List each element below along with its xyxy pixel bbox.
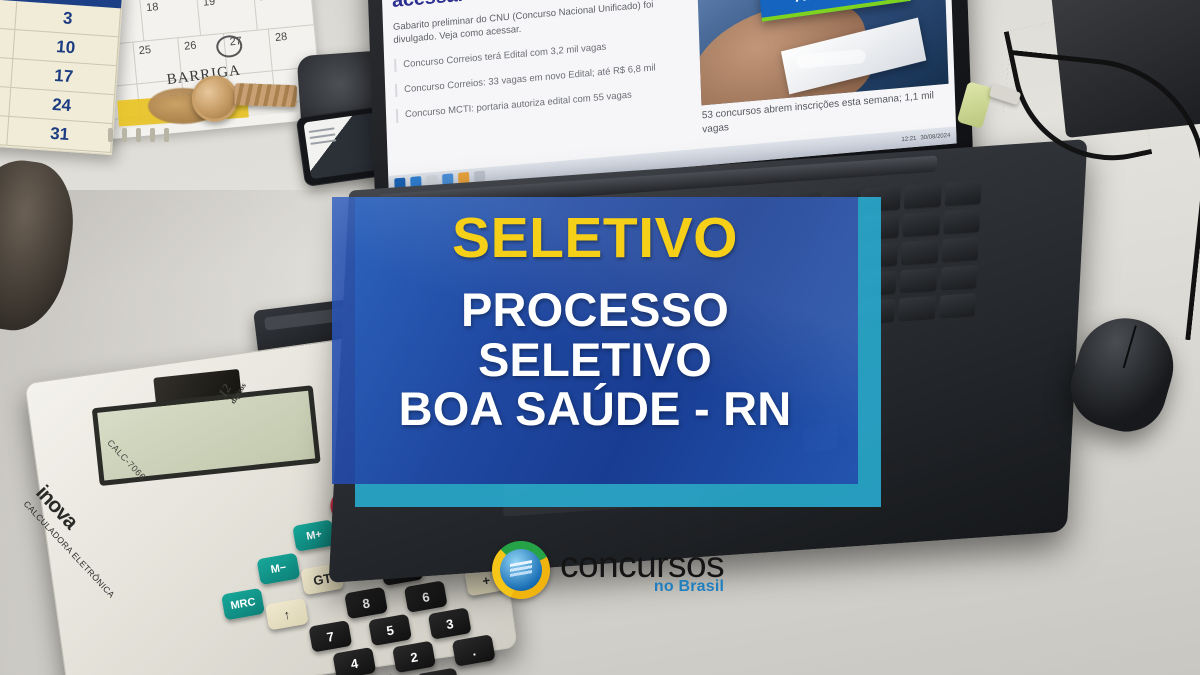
calc-key-8[interactable]: 8 bbox=[344, 587, 388, 620]
calc-key-3[interactable]: 3 bbox=[428, 607, 472, 640]
calendar-day: 31 bbox=[7, 117, 113, 152]
calendar-binder-rings bbox=[108, 128, 174, 144]
calc-key-4[interactable]: 4 bbox=[332, 647, 376, 675]
calc-key-arrow[interactable]: ↑ bbox=[265, 598, 309, 631]
watch-band bbox=[234, 83, 297, 107]
calendar-grid: 3 9 10 16 17 23 24 30 31 bbox=[0, 0, 121, 154]
book-glyph bbox=[510, 560, 532, 580]
promo-image[interactable]: CONCURSOS ABERTOS bbox=[696, 0, 949, 105]
calc-key-7[interactable]: 7 bbox=[308, 620, 352, 653]
promo-badge-line2: ABERTOS bbox=[767, 0, 902, 10]
logo-name: concursos bbox=[560, 546, 724, 583]
calendar-day: 19 bbox=[197, 0, 258, 35]
calc-key-5[interactable]: 5 bbox=[368, 614, 412, 647]
banner-title-line3: BOA SAÚDE - RN bbox=[399, 384, 792, 434]
banner-title: PROCESSO SELETIVO BOA SAÚDE - RN bbox=[399, 285, 792, 434]
banner-content: SELETIVO PROCESSO SELETIVO BOA SAÚDE - R… bbox=[332, 197, 858, 484]
banner-title-line2: SELETIVO bbox=[399, 335, 792, 385]
watch-face bbox=[190, 74, 239, 123]
tray-time: 12:21 bbox=[901, 135, 916, 142]
system-tray[interactable]: 12:21 30/08/2024 bbox=[901, 132, 950, 142]
brand-logo[interactable]: concursos no Brasil bbox=[492, 541, 724, 599]
calc-key-m-minus[interactable]: M− bbox=[257, 553, 301, 586]
banner-title-line1: PROCESSO bbox=[399, 285, 792, 335]
wristwatch bbox=[178, 68, 300, 132]
screenshot-canvas: 17 18 19 20 24 25 26 27 28 31 BARRI bbox=[0, 0, 1200, 675]
banner-kicker: SELETIVO bbox=[452, 209, 738, 269]
tray-date: 30/08/2024 bbox=[920, 132, 950, 141]
news-column: Gabarito CNU: saiba onde acessar as resp… bbox=[391, 0, 686, 135]
logo-wordmark: concursos no Brasil bbox=[560, 546, 724, 595]
calc-key-mrc[interactable]: MRC bbox=[221, 588, 265, 621]
logo-inner-circle bbox=[500, 549, 542, 591]
title-banner: SELETIVO PROCESSO SELETIVO BOA SAÚDE - R… bbox=[332, 197, 858, 484]
calendar-day: 18 bbox=[140, 0, 201, 41]
book-badge-icon bbox=[492, 541, 550, 599]
desk-calendar: SÁBADO 3 9 10 16 17 23 24 bbox=[0, 0, 124, 155]
